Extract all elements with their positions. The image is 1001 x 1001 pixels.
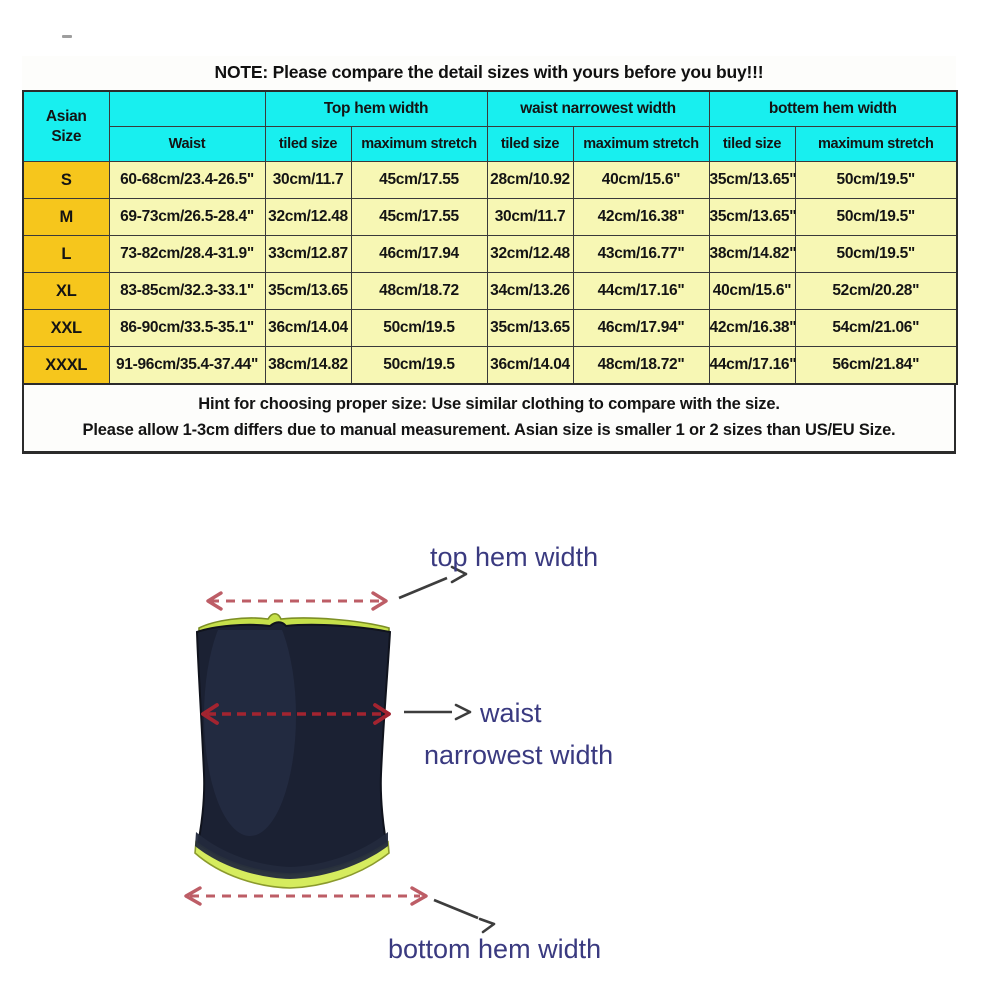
- size-table: Asian Size Top hem width waist narrowest…: [22, 90, 958, 385]
- cell-waist-tiled: 35cm/13.65: [487, 310, 573, 347]
- waist-leader-line: [404, 705, 470, 719]
- cell-bottom-tiled: 42cm/16.38": [709, 310, 795, 347]
- header-group-waist-narrowest-width: waist narrowest width: [487, 91, 709, 127]
- table-row: XXXL 91-96cm/35.4-37.44" 38cm/14.82 50cm…: [23, 347, 957, 385]
- table-body: S 60-68cm/23.4-26.5" 30cm/11.7 45cm/17.5…: [23, 162, 957, 385]
- top-hem-dimension-arrow: [208, 593, 386, 609]
- cell-top-max: 45cm/17.55: [351, 162, 487, 199]
- cell-waist-max: 43cm/16.77": [573, 236, 709, 273]
- cell-size: L: [23, 236, 109, 273]
- header-asian-size: Asian Size: [23, 91, 109, 162]
- table-row: M 69-73cm/26.5-28.4" 32cm/12.48 45cm/17.…: [23, 199, 957, 236]
- label-waist-line1: waist: [479, 698, 542, 728]
- cell-top-tiled: 30cm/11.7: [265, 162, 351, 199]
- header-row-subs: Waist tiled size maximum stretch tiled s…: [23, 127, 957, 162]
- label-bottom-hem-width: bottom hem width: [388, 934, 601, 964]
- cell-waist-tiled: 36cm/14.04: [487, 347, 573, 385]
- cell-top-tiled: 36cm/14.04: [265, 310, 351, 347]
- table-row: S 60-68cm/23.4-26.5" 30cm/11.7 45cm/17.5…: [23, 162, 957, 199]
- cell-top-max: 46cm/17.94: [351, 236, 487, 273]
- note-banner: NOTE: Please compare the detail sizes wi…: [22, 56, 956, 90]
- cell-size: XXL: [23, 310, 109, 347]
- cell-bottom-max: 54cm/21.06": [795, 310, 957, 347]
- size-chart-block: NOTE: Please compare the detail sizes wi…: [22, 56, 956, 454]
- label-top-hem-width: top hem width: [430, 542, 598, 572]
- cell-bottom-max: 50cm/19.5": [795, 162, 957, 199]
- hint-line-1: Hint for choosing proper size: Use simil…: [24, 392, 954, 418]
- cell-waist: 86-90cm/33.5-35.1": [109, 310, 265, 347]
- measurement-diagram: top hem width waist narrowest width: [0, 536, 1001, 1001]
- cell-waist-tiled: 34cm/13.26: [487, 273, 573, 310]
- header-sub-waist: Waist: [109, 127, 265, 162]
- table-row: L 73-82cm/28.4-31.9" 33cm/12.87 46cm/17.…: [23, 236, 957, 273]
- cell-waist-max: 46cm/17.94": [573, 310, 709, 347]
- cell-waist-max: 44cm/17.16": [573, 273, 709, 310]
- header-asian-size-line2: Size: [24, 127, 109, 146]
- cell-waist-tiled: 28cm/10.92: [487, 162, 573, 199]
- cell-bottom-max: 50cm/19.5": [795, 236, 957, 273]
- cell-size: XXXL: [23, 347, 109, 385]
- cell-top-max: 48cm/18.72: [351, 273, 487, 310]
- cell-bottom-tiled: 35cm/13.65": [709, 162, 795, 199]
- cell-waist: 60-68cm/23.4-26.5": [109, 162, 265, 199]
- header-sub-bottom-maximum-stretch: maximum stretch: [795, 127, 957, 162]
- bottom-hem-dimension-arrow: [186, 888, 426, 904]
- cell-size: S: [23, 162, 109, 199]
- cell-top-tiled: 38cm/14.82: [265, 347, 351, 385]
- garment-sheen: [204, 596, 296, 836]
- header-sub-bottom-tiled-size: tiled size: [709, 127, 795, 162]
- cell-waist: 91-96cm/35.4-37.44": [109, 347, 265, 385]
- cell-waist: 83-85cm/32.3-33.1": [109, 273, 265, 310]
- cell-bottom-tiled: 44cm/17.16": [709, 347, 795, 385]
- header-sub-waist-tiled-size: tiled size: [487, 127, 573, 162]
- cell-waist-tiled: 30cm/11.7: [487, 199, 573, 236]
- cell-waist-tiled: 32cm/12.48: [487, 236, 573, 273]
- cell-top-max: 50cm/19.5: [351, 347, 487, 385]
- cell-bottom-max: 52cm/20.28": [795, 273, 957, 310]
- label-waist-line2: narrowest width: [424, 740, 613, 770]
- table-header: Asian Size Top hem width waist narrowest…: [23, 91, 957, 162]
- header-group-waist-blank: [109, 91, 265, 127]
- cell-waist-max: 48cm/18.72": [573, 347, 709, 385]
- header-sub-top-maximum-stretch: maximum stretch: [351, 127, 487, 162]
- header-sub-top-tiled-size: tiled size: [265, 127, 351, 162]
- cell-top-max: 45cm/17.55: [351, 199, 487, 236]
- table-row: XL 83-85cm/32.3-33.1" 35cm/13.65 48cm/18…: [23, 273, 957, 310]
- bottom-hem-leader-line: [434, 900, 494, 932]
- size-chart-page: NOTE: Please compare the detail sizes wi…: [0, 0, 1001, 1001]
- cell-bottom-tiled: 38cm/14.82": [709, 236, 795, 273]
- cell-bottom-max: 50cm/19.5": [795, 199, 957, 236]
- hint-footer: Hint for choosing proper size: Use simil…: [22, 385, 956, 454]
- cell-size: XL: [23, 273, 109, 310]
- header-group-bottom-hem-width: bottem hem width: [709, 91, 957, 127]
- cell-bottom-tiled: 35cm/13.65": [709, 199, 795, 236]
- cell-waist: 69-73cm/26.5-28.4": [109, 199, 265, 236]
- cell-bottom-tiled: 40cm/15.6": [709, 273, 795, 310]
- header-group-top-hem-width: Top hem width: [265, 91, 487, 127]
- header-sub-waist-maximum-stretch: maximum stretch: [573, 127, 709, 162]
- cell-top-tiled: 32cm/12.48: [265, 199, 351, 236]
- cell-waist: 73-82cm/28.4-31.9": [109, 236, 265, 273]
- cell-waist-max: 42cm/16.38": [573, 199, 709, 236]
- header-asian-size-line1: Asian: [24, 107, 109, 126]
- cell-top-tiled: 33cm/12.87: [265, 236, 351, 273]
- cell-top-tiled: 35cm/13.65: [265, 273, 351, 310]
- header-row-groups: Asian Size Top hem width waist narrowest…: [23, 91, 957, 127]
- cell-top-max: 50cm/19.5: [351, 310, 487, 347]
- stray-mark-artifact: [62, 35, 72, 38]
- cell-size: M: [23, 199, 109, 236]
- hint-line-2: Please allow 1-3cm differs due to manual…: [24, 418, 954, 444]
- table-row: XXL 86-90cm/33.5-35.1" 36cm/14.04 50cm/1…: [23, 310, 957, 347]
- cell-waist-max: 40cm/15.6": [573, 162, 709, 199]
- cell-bottom-max: 56cm/21.84": [795, 347, 957, 385]
